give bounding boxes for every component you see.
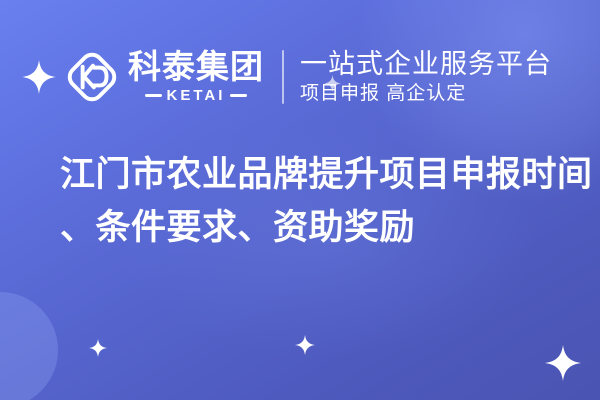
sparkle-bottom-left-icon <box>89 339 107 357</box>
promo-banner: 科泰集团 KETAI 一站式企业服务平台 项目申报 高企认定 江门市农业品牌提升… <box>0 0 600 400</box>
logo-chinese-name: 科泰集团 <box>128 50 264 85</box>
circle-accent-left <box>0 292 58 400</box>
page-title-line-2: 、条件要求、资助奖励 <box>60 201 560 254</box>
sparkle-bottom-mid-icon <box>295 335 315 355</box>
sparkle-bottom-right-icon <box>545 345 581 381</box>
slogan-block: 一站式企业服务平台 项目申报 高企认定 <box>300 49 552 106</box>
sparkle-small-icon <box>324 75 341 92</box>
logo-english-row: KETAI <box>145 87 248 104</box>
page-title: 江门市农业品牌提升项目申报时间 、条件要求、资助奖励 <box>60 148 560 254</box>
banner-header: 科泰集团 KETAI 一站式企业服务平台 项目申报 高企认定 <box>0 38 600 116</box>
page-title-line-1: 江门市农业品牌提升项目申报时间 <box>60 148 560 201</box>
logo-english-name: KETAI <box>167 87 226 104</box>
logo-wordmark: 科泰集团 KETAI <box>128 50 264 104</box>
logo-rule-right <box>230 94 247 97</box>
sparkle-four-point-icon <box>22 60 56 94</box>
logo-rule-left <box>145 94 162 97</box>
ketai-diamond-monogram-icon <box>62 47 122 107</box>
vertical-divider <box>282 50 284 104</box>
